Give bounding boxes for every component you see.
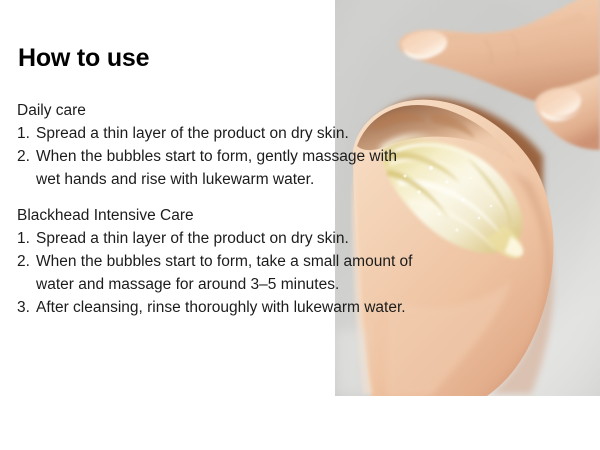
step-number: 1.: [17, 122, 30, 145]
step-number: 3.: [17, 296, 30, 319]
list-item: 3. After cleansing, rinse thoroughly wit…: [17, 296, 413, 319]
section-heading: Daily care: [17, 99, 397, 122]
instructions-text-layer: How to use Daily care 1. Spread a thin l…: [0, 0, 600, 450]
steps-list: 1. Spread a thin layer of the product on…: [17, 227, 413, 319]
step-line: When the bubbles start to form, gently m…: [36, 145, 397, 168]
step-line: Spread a thin layer of the product on dr…: [36, 227, 413, 250]
step-line: Spread a thin layer of the product on dr…: [36, 122, 397, 145]
how-to-use-panel: How to use Daily care 1. Spread a thin l…: [0, 0, 600, 450]
page-title: How to use: [18, 43, 149, 73]
list-item: 1. Spread a thin layer of the product on…: [17, 227, 413, 250]
step-line: After cleansing, rinse thoroughly with l…: [36, 296, 413, 319]
section-blackhead-intensive-care: Blackhead Intensive Care 1. Spread a thi…: [17, 204, 413, 319]
step-number: 1.: [17, 227, 30, 250]
step-number: 2.: [17, 145, 30, 168]
list-item: 1. Spread a thin layer of the product on…: [17, 122, 397, 145]
section-heading: Blackhead Intensive Care: [17, 204, 413, 227]
list-item: 2. When the bubbles start to form, gentl…: [17, 145, 397, 191]
step-line: When the bubbles start to form, take a s…: [36, 250, 413, 273]
section-daily-care: Daily care 1. Spread a thin layer of the…: [17, 99, 397, 191]
step-line: water and massage for around 3–5 minutes…: [36, 273, 413, 296]
step-line: wet hands and rise with lukewarm water.: [36, 168, 397, 191]
step-number: 2.: [17, 250, 30, 273]
steps-list: 1. Spread a thin layer of the product on…: [17, 122, 397, 191]
list-item: 2. When the bubbles start to form, take …: [17, 250, 413, 296]
